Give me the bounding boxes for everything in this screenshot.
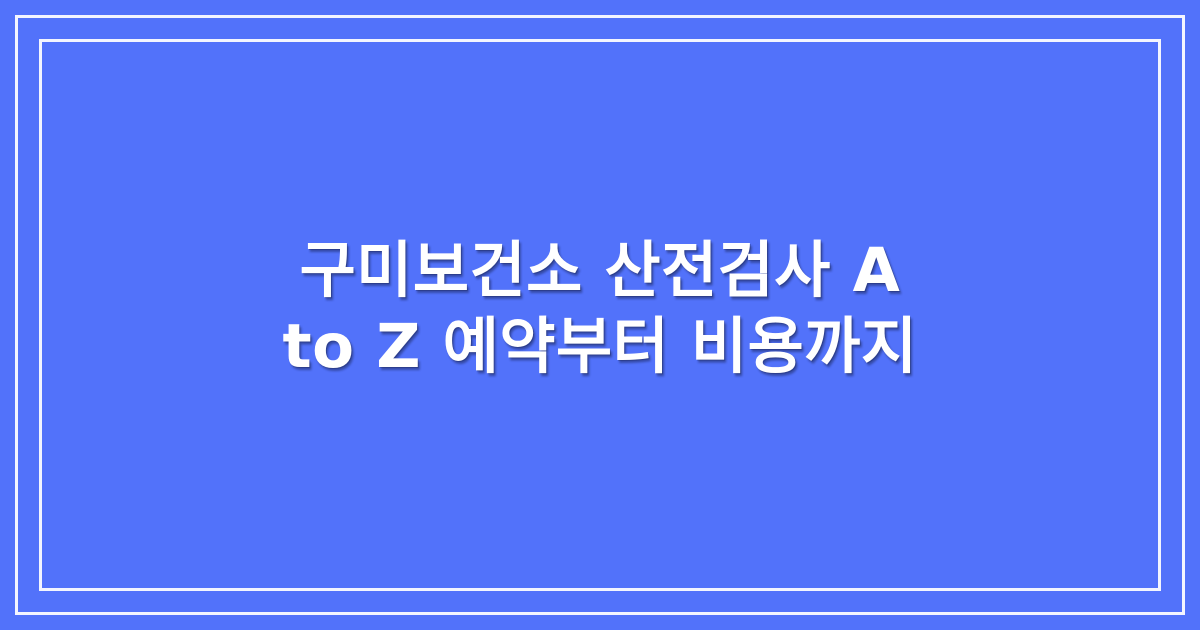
page-title: 구미보건소 산전검사 A to Z 예약부터 비용까지 xyxy=(270,233,930,385)
thumbnail-card: 구미보건소 산전검사 A to Z 예약부터 비용까지 xyxy=(0,0,1200,630)
title-container: 구미보건소 산전검사 A to Z 예약부터 비용까지 xyxy=(0,0,1200,630)
